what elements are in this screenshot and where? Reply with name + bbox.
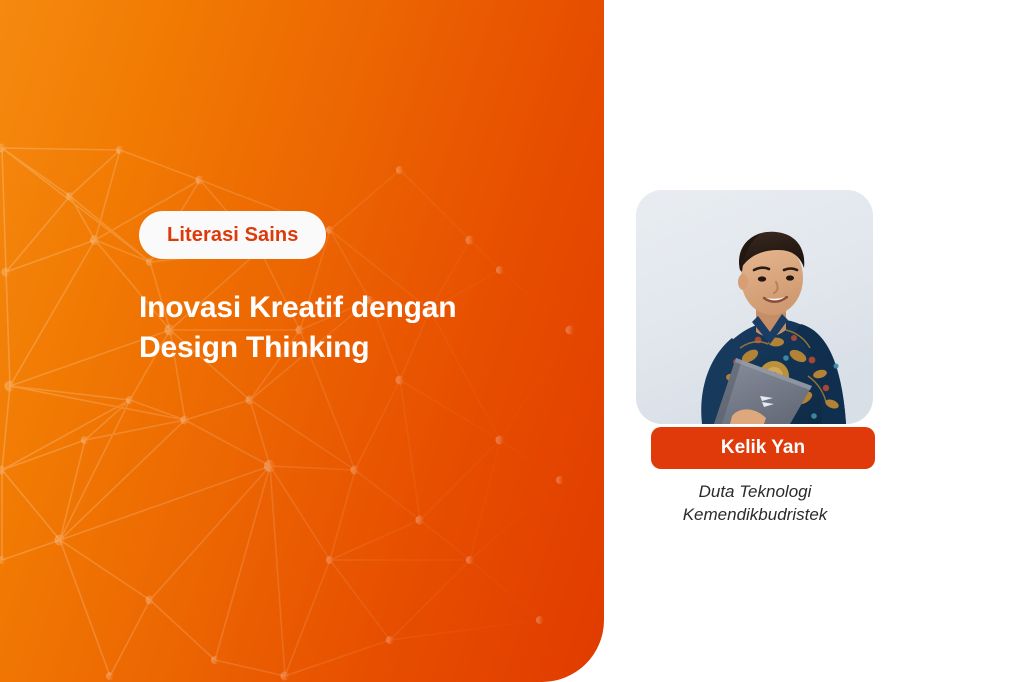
category-badge[interactable]: Literasi Sains — [139, 211, 326, 259]
category-badge-label: Literasi Sains — [167, 224, 298, 247]
page-title-line-1: Inovasi Kreatif dengan — [139, 291, 456, 324]
speaker-card: Kelik Yan Duta Teknologi Kemendikbudrist… — [636, 190, 873, 424]
speaker-photo — [636, 190, 873, 424]
page-title: Inovasi Kreatif dengan Design Thinking — [139, 288, 579, 368]
orange-hero-panel: Literasi Sains Inovasi Kreatif dengan De… — [0, 0, 604, 682]
slide-canvas: Literasi Sains Inovasi Kreatif dengan De… — [0, 0, 1023, 682]
speaker-role-line-1: Duta Teknologi — [699, 482, 812, 501]
speaker-role: Duta Teknologi Kemendikbudristek — [630, 480, 880, 526]
speaker-role-line-2: Kemendikbudristek — [630, 503, 880, 526]
speaker-name: Kelik Yan — [721, 437, 805, 459]
page-title-line-2: Design Thinking — [139, 328, 579, 368]
speaker-name-badge: Kelik Yan — [651, 427, 875, 469]
